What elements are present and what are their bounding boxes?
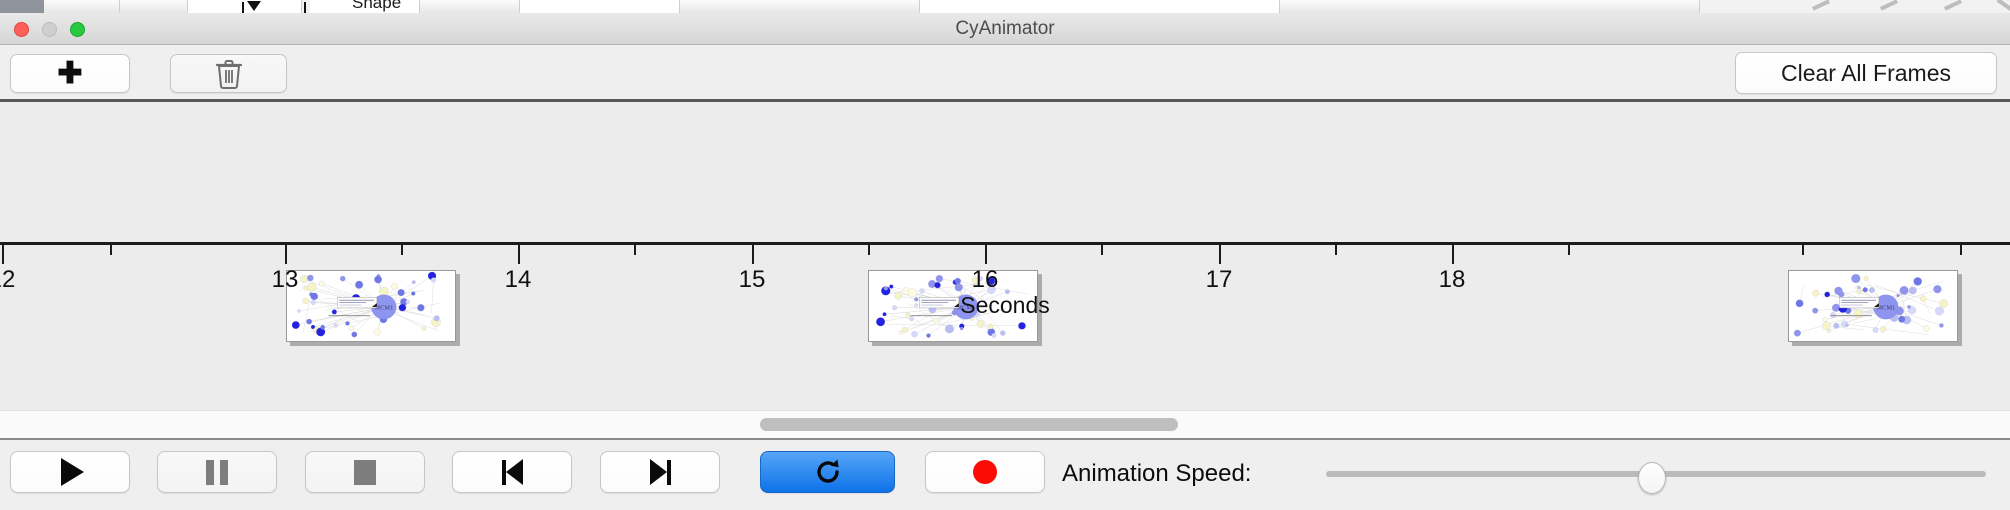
axis-tick-major (985, 245, 987, 264)
axis-tick-major (2, 245, 4, 264)
play-button[interactable] (10, 451, 130, 493)
axis-tick-minor (1101, 245, 1103, 255)
play-icon (57, 458, 84, 486)
background-window-segment (44, 0, 120, 13)
axis-tick-minor (634, 245, 636, 255)
axis-tick-minor (110, 245, 112, 255)
axis-tick-minor (1802, 245, 1804, 255)
skip-end-button[interactable] (600, 451, 720, 493)
skip-forward-icon (650, 459, 671, 485)
axis-tick-minor (868, 245, 870, 255)
background-window-segment (120, 0, 188, 13)
background-window-toolbar-dark (0, 0, 44, 13)
cyanimator-window: Shape CyAnimator ✚ Clear All Frame (0, 0, 2010, 510)
background-window-segment (420, 0, 520, 13)
timeline-panel[interactable]: MCM1 MCM1 MCM1 12131415161718 Seconds (0, 102, 2010, 410)
axis-tick-label: 13 (245, 266, 325, 294)
axis-tick-label: 17 (1179, 266, 1259, 294)
loop-button[interactable] (760, 451, 895, 493)
add-frame-button[interactable]: ✚ (10, 54, 130, 93)
background-resize-hint (1944, 0, 1962, 11)
axis-tick-minor (401, 245, 403, 255)
background-window-strip: Shape (0, 0, 2010, 13)
pause-button[interactable] (157, 451, 277, 493)
stop-icon (354, 460, 376, 485)
axis-tick-label: 15 (712, 266, 792, 294)
background-window-segment (680, 0, 920, 13)
background-resize-hint (1880, 0, 1898, 11)
axis-baseline (0, 242, 2010, 245)
axis-title: Seconds (0, 292, 2010, 319)
window-title: CyAnimator (0, 18, 2010, 40)
axis-tick-minor (1335, 245, 1337, 255)
clear-all-frames-label: Clear All Frames (1781, 60, 1951, 87)
scrollbar-thumb[interactable] (760, 418, 1178, 431)
axis-tick-major (1452, 245, 1454, 264)
axis-tick-label: 14 (478, 266, 558, 294)
background-window-label: Shape (352, 0, 401, 13)
background-resize-hint (1812, 0, 1830, 11)
skip-back-icon (502, 459, 523, 485)
skip-start-button[interactable] (452, 451, 572, 493)
pause-icon (206, 460, 228, 485)
background-window-segment (520, 0, 680, 13)
delete-frame-button[interactable] (170, 54, 287, 93)
background-window-segment (188, 0, 302, 13)
axis-tick-major (1219, 245, 1221, 264)
loop-icon (813, 457, 843, 487)
animation-speed-label: Animation Speed: (1062, 460, 1251, 488)
axis-tick-minor (1960, 245, 1962, 255)
record-button[interactable] (925, 451, 1045, 493)
stop-button[interactable] (305, 451, 425, 493)
plus-icon: ✚ (57, 59, 82, 89)
animation-speed-slider-thumb[interactable] (1638, 462, 1666, 494)
title-bar[interactable]: CyAnimator (0, 13, 2010, 45)
axis-tick-major (285, 245, 287, 264)
axis-tick-major (518, 245, 520, 264)
background-resize-hint (1996, 0, 2010, 12)
frame-toolbar: ✚ Clear All Frames (0, 45, 2010, 102)
record-icon (973, 460, 997, 484)
axis-tick-label: 18 (1412, 266, 1492, 294)
clear-all-frames-button[interactable]: Clear All Frames (1735, 52, 1997, 94)
background-tick-mark (304, 2, 306, 13)
axis-tick-major (752, 245, 754, 264)
background-tick-mark (242, 2, 244, 13)
trash-icon (216, 59, 242, 89)
axis-tick-label: 12 (0, 266, 42, 294)
background-arrow-glyph (247, 1, 261, 11)
background-window-segment (920, 0, 1280, 13)
playback-control-bar: Animation Speed: (0, 442, 2010, 510)
axis-tick-minor (1568, 245, 1570, 255)
background-window-segment (1280, 0, 1700, 13)
timeline-scrollbar[interactable] (0, 410, 2010, 440)
axis-tick-label: 16 (945, 266, 1025, 294)
